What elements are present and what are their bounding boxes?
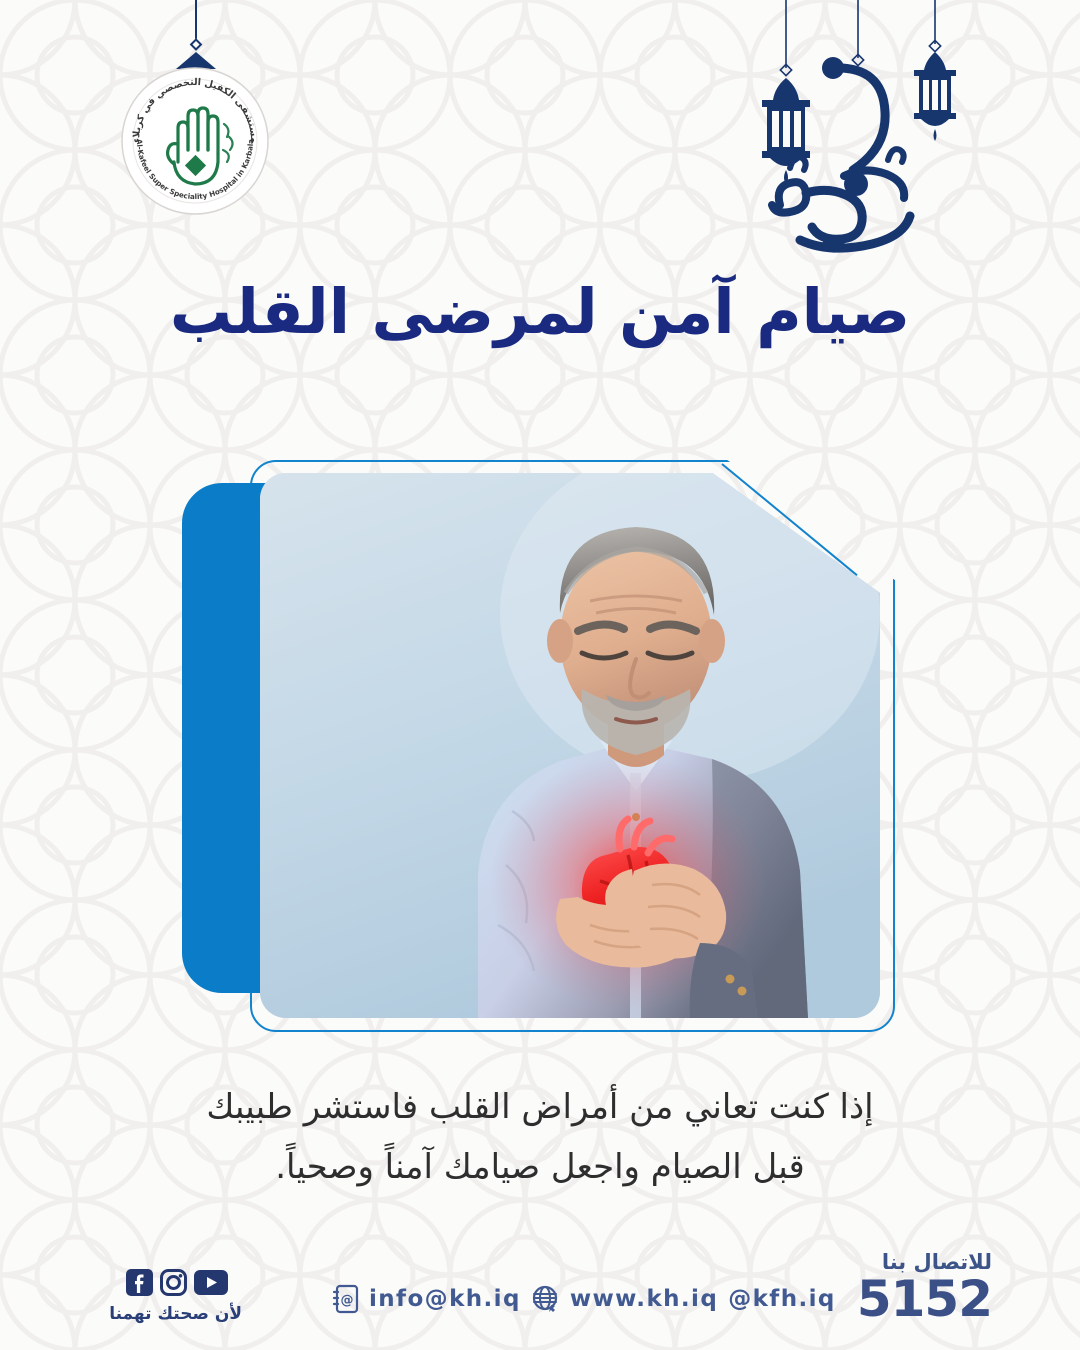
facebook-icon[interactable] bbox=[126, 1269, 153, 1296]
svg-text:@: @ bbox=[341, 1293, 354, 1308]
handle-text: @kfh.iq bbox=[728, 1286, 836, 1312]
contact-website[interactable]: www.kh.iq bbox=[531, 1284, 718, 1314]
email-text: info@kh.iq bbox=[369, 1286, 521, 1312]
contact-email[interactable]: @ info@kh.iq bbox=[332, 1284, 521, 1314]
phone-number[interactable]: 5152 bbox=[857, 1274, 992, 1324]
youtube-icon[interactable] bbox=[194, 1270, 228, 1295]
body-line-2: قبل الصيام واجعل صيامك آمناً وصحياً. bbox=[130, 1138, 950, 1198]
hospital-logo: مستشفى الكفيل التخصصي في كربلاء Al-Kafee… bbox=[120, 66, 270, 216]
footer: لأن صحتك تهمنا @ info@kh.iq bbox=[0, 1230, 1080, 1350]
logo-hanger bbox=[194, 0, 198, 60]
social-icons bbox=[112, 1269, 242, 1296]
globe-icon bbox=[531, 1284, 561, 1314]
email-card-icon: @ bbox=[332, 1284, 360, 1314]
ramadan-decoration bbox=[740, 0, 1080, 270]
contact-handle[interactable]: @kfh.iq bbox=[728, 1286, 836, 1312]
hero-photo bbox=[260, 473, 880, 1018]
body-paragraph: إذا كنت تعاني من أمراض القلب فاستشر طبيب… bbox=[130, 1078, 950, 1197]
body-line-1: إذا كنت تعاني من أمراض القلب فاستشر طبيب… bbox=[130, 1078, 950, 1138]
social-tagline: لأن صحتك تهمنا bbox=[112, 1304, 242, 1324]
page-title: صيام آمن لمرضى القلب bbox=[0, 276, 1080, 347]
poster-canvas: مستشفى الكفيل التخصصي في كربلاء Al-Kafee… bbox=[0, 0, 1080, 1350]
phone-block: للاتصال بنا 5152 bbox=[857, 1251, 992, 1324]
website-text: www.kh.iq bbox=[570, 1286, 718, 1312]
contact-row: @ info@kh.iq www.kh.iq @k bbox=[332, 1284, 836, 1314]
ramadan-calligraphy bbox=[772, 149, 910, 248]
instagram-icon[interactable] bbox=[160, 1269, 187, 1296]
social-block: لأن صحتك تهمنا bbox=[112, 1269, 242, 1324]
hero-image-block bbox=[160, 455, 900, 1055]
